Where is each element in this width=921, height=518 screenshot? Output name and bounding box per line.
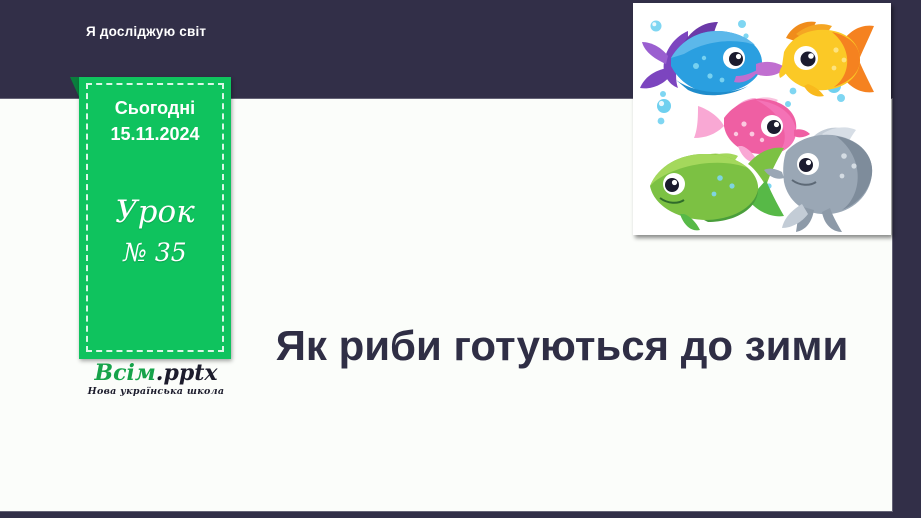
page-title: Я досліджую світ (86, 24, 206, 39)
lesson-card-body: Сьогодні 15.11.2024 Урок № 35 (79, 77, 231, 359)
fish-illustration-svg (636, 6, 888, 232)
lesson-date: 15.11.2024 (110, 121, 199, 147)
fish-illustration (633, 3, 891, 235)
today-label: Сьогодні (115, 95, 195, 121)
lesson-card: Сьогодні 15.11.2024 Урок № 35 (79, 77, 231, 359)
brand-name-extension: .pptx (156, 360, 218, 386)
brand-logo: Всім.pptx Нова українська школа (82, 362, 230, 397)
lesson-word: Урок (115, 197, 194, 228)
brand-tagline: Нова українська школа (82, 387, 230, 397)
slide: Я досліджую світ (0, 0, 921, 518)
slide-title: Як риби готуються до зими (252, 316, 872, 377)
brand-name: Всім.pptx (82, 362, 230, 384)
brand-name-primary: Всім (95, 360, 156, 386)
lesson-number: № 35 (123, 240, 186, 265)
